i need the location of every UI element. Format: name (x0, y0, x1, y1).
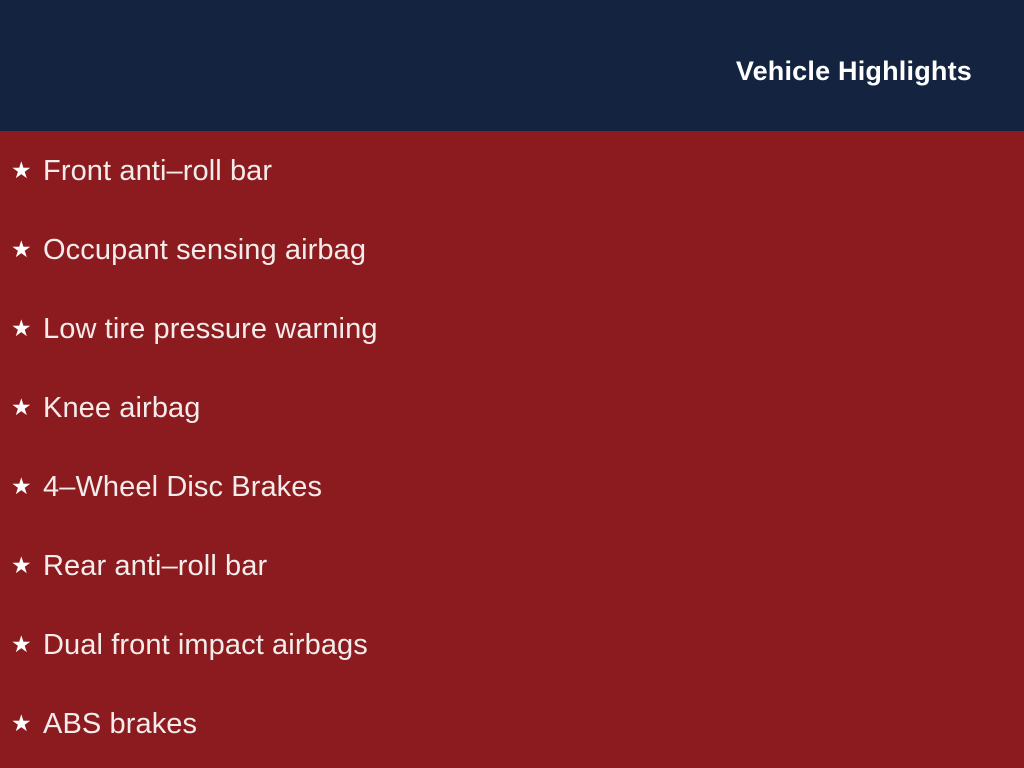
star-icon: ★ (11, 550, 32, 580)
list-item-label: 4–Wheel Disc Brakes (43, 470, 322, 504)
list-item: ★ Low tire pressure warning (0, 289, 1024, 368)
list-item: ★ ABS brakes (0, 684, 1024, 763)
page-title: Vehicle Highlights (736, 57, 972, 87)
list-item-label: Occupant sensing airbag (43, 233, 366, 267)
vehicle-highlights-list: ★ Front anti–roll bar ★ Occupant sensing… (0, 131, 1024, 768)
list-item: ★ Occupant sensing airbag (0, 210, 1024, 289)
star-icon: ★ (11, 234, 32, 264)
list-item: ★ Front anti–roll bar (0, 131, 1024, 210)
list-item-label: Low tire pressure warning (43, 312, 378, 346)
star-icon: ★ (11, 392, 32, 422)
list-item: ★ Dual front impact airbags (0, 605, 1024, 684)
star-icon: ★ (11, 708, 32, 738)
slide-header: Vehicle Highlights (0, 0, 1024, 131)
star-icon: ★ (11, 471, 32, 501)
star-icon: ★ (11, 155, 32, 185)
list-item: ★ Knee airbag (0, 368, 1024, 447)
list-item: ★ 4–Wheel Disc Brakes (0, 447, 1024, 526)
list-item-label: Knee airbag (43, 391, 201, 425)
star-icon: ★ (11, 629, 32, 659)
list-item-label: Front anti–roll bar (43, 154, 272, 188)
list-item: ★ Rear anti–roll bar (0, 526, 1024, 605)
list-item-label: Dual front impact airbags (43, 628, 368, 662)
list-item-label: ABS brakes (43, 707, 197, 741)
vehicle-highlights-slide: Vehicle Highlights ★ Front anti–roll bar… (0, 0, 1024, 768)
list-item-label: Rear anti–roll bar (43, 549, 267, 583)
star-icon: ★ (11, 313, 32, 343)
